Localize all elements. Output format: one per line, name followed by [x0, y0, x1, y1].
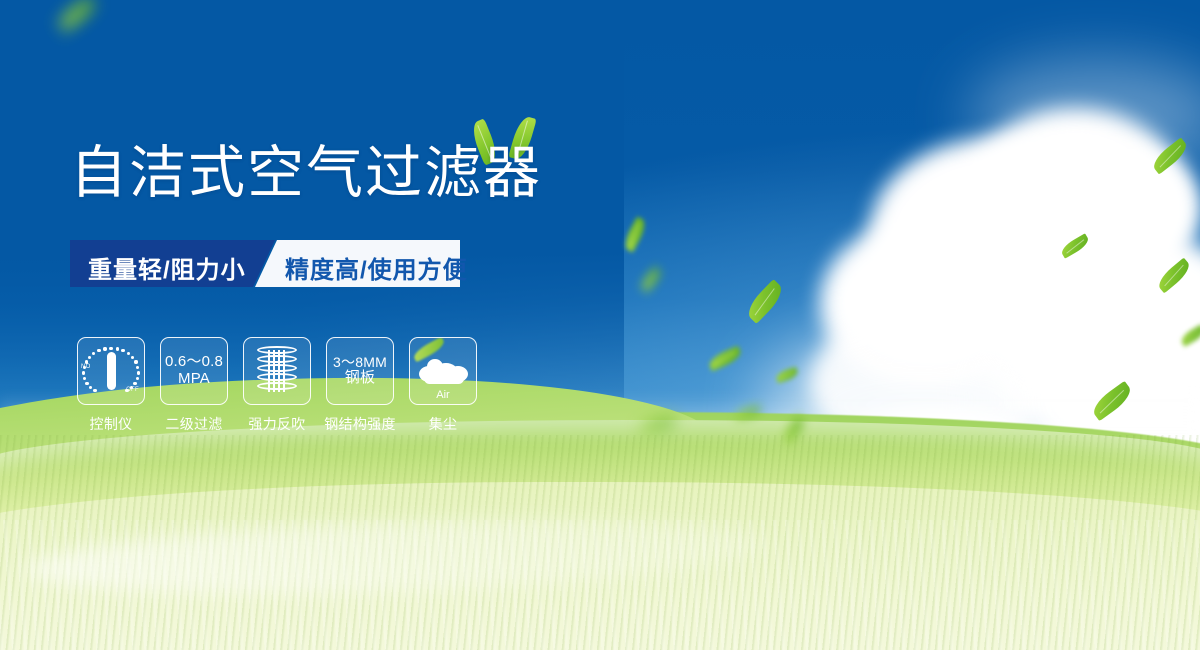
- subtitle-banner: 重量轻/阻力小 精度高/使用方便: [70, 240, 460, 287]
- dial-gauge-icon: NO OFF: [81, 343, 141, 399]
- feature-list: NO OFF 控制仪 0.6～0.8 MPA 二级过滤: [73, 337, 481, 434]
- cloud-leaf-streak-icon: [411, 337, 446, 362]
- feature-icon-box: 0.6～0.8 MPA: [160, 337, 228, 405]
- subtitle-left-text: 重量轻/阻力小: [88, 250, 246, 285]
- feature-icon-box: [243, 337, 311, 405]
- feature-label: 集尘: [429, 414, 458, 434]
- feature-icon-box: NO OFF: [77, 337, 145, 405]
- dial-indicator-bar: [107, 352, 116, 390]
- dial-no-label: NO: [81, 364, 91, 370]
- feature-label: 钢结构强度: [324, 414, 396, 434]
- banner-stage: 自洁式空气过滤器 重量轻/阻力小 精度高/使用方便: [0, 0, 1200, 650]
- page-title: 自洁式空气过滤器: [70, 145, 542, 202]
- pressure-unit-text: MPA: [178, 371, 210, 388]
- feature-icon-box: Air: [409, 337, 477, 405]
- feature-label: 二级过滤: [165, 414, 222, 434]
- feature-item-control-instrument[interactable]: NO OFF 控制仪: [73, 337, 149, 434]
- feature-icon-box: 3～8MM 钢板: [326, 337, 394, 405]
- subtitle-right-text: 精度高/使用方便: [285, 250, 468, 285]
- feature-item-dust-collection[interactable]: Air 集尘: [405, 337, 481, 434]
- feature-item-strong-backblow[interactable]: 强力反吹: [239, 337, 315, 434]
- filter-coil-icon: [257, 346, 297, 396]
- cloud-air-icon: Air: [418, 354, 468, 388]
- feature-item-secondary-filtration[interactable]: 0.6～0.8 MPA 二级过滤: [156, 337, 232, 434]
- pressure-value-text: 0.6～0.8: [165, 354, 223, 371]
- cloud-air-label: Air: [418, 389, 468, 401]
- feature-label: 控制仪: [90, 414, 133, 434]
- feature-label: 强力反吹: [248, 414, 305, 434]
- dial-off-label: OFF: [126, 387, 139, 393]
- feature-item-steel-strength[interactable]: 3～8MM 钢板 钢结构强度: [322, 337, 398, 434]
- steel-plate-text: 钢板: [345, 370, 375, 387]
